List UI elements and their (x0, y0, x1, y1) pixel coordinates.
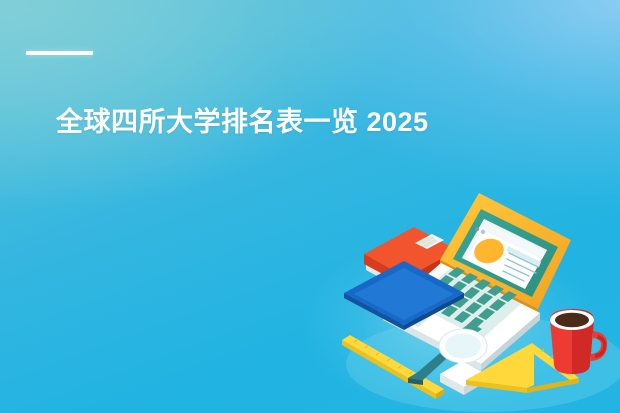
page-title: 全球四所大学排名表一览 2025 (56, 106, 429, 140)
accent-rule (26, 51, 93, 55)
article-cover-banner: 全球四所大学排名表一览 2025 (0, 0, 620, 413)
illustration (336, 188, 620, 413)
